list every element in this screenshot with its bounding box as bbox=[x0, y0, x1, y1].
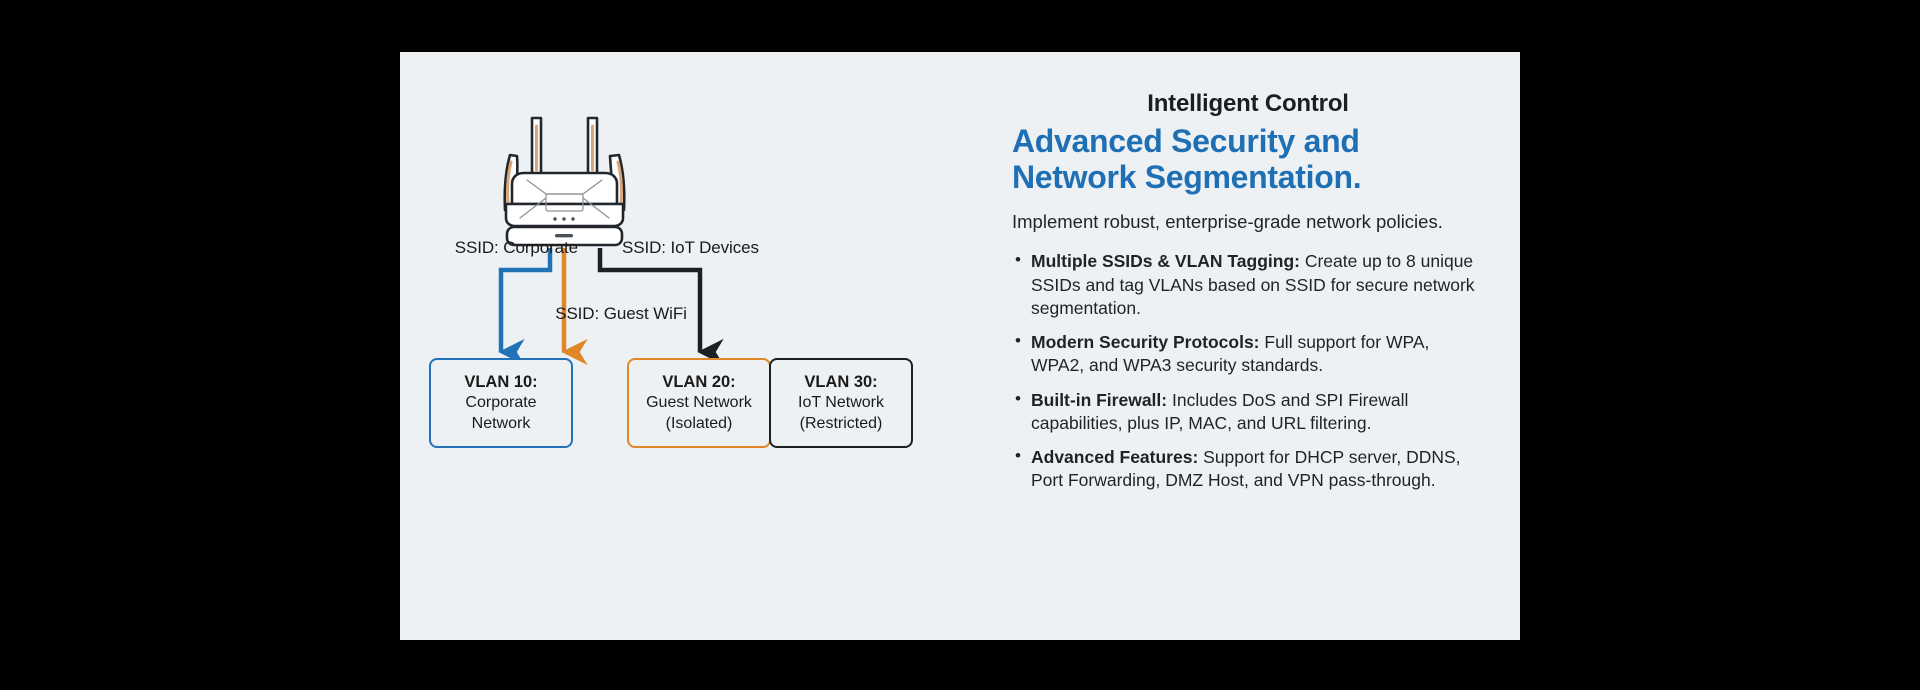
wifi-router-icon bbox=[505, 118, 625, 245]
feature-copy: Intelligent Control Advanced Security an… bbox=[1000, 52, 1520, 640]
feature-card: SSID: Corporate SSID: Guest WiFi SSID: I… bbox=[400, 52, 1520, 640]
vlan-20-line2: (Isolated) bbox=[666, 414, 733, 434]
vlan-30-line2: (Restricted) bbox=[800, 414, 883, 434]
bullet-term: Multiple SSIDs & VLAN Tagging: bbox=[1031, 251, 1300, 271]
vlan-box-30: VLAN 30: IoT Network (Restricted) bbox=[769, 358, 913, 448]
vlan-30-line1: IoT Network bbox=[798, 393, 884, 413]
list-item: Modern Security Protocols: Full support … bbox=[1012, 331, 1484, 378]
bullet-term: Built-in Firewall: bbox=[1031, 390, 1167, 410]
headline-line-2: Network Segmentation. bbox=[1012, 159, 1361, 195]
network-segmentation-diagram: SSID: Corporate SSID: Guest WiFi SSID: I… bbox=[400, 52, 1000, 640]
vlan-20-title: VLAN 20: bbox=[662, 372, 735, 393]
ssid-label-guest: SSID: Guest WiFi bbox=[500, 304, 742, 324]
lede-text: Implement robust, enterprise-grade netwo… bbox=[1012, 210, 1484, 235]
ssid-label-iot: SSID: IoT Devices bbox=[622, 238, 812, 258]
bullet-term: Advanced Features: bbox=[1031, 447, 1198, 467]
diagram-canvas bbox=[400, 52, 1000, 640]
link-iot bbox=[600, 248, 700, 352]
page-title: Advanced Security and Network Segmentati… bbox=[1012, 124, 1484, 196]
vlan-10-line2: Network bbox=[472, 414, 531, 434]
link-corporate bbox=[501, 248, 550, 352]
list-item: Multiple SSIDs & VLAN Tagging: Create up… bbox=[1012, 250, 1484, 320]
list-item: Advanced Features: Support for DHCP serv… bbox=[1012, 446, 1484, 493]
feature-bullet-list: Multiple SSIDs & VLAN Tagging: Create up… bbox=[1012, 250, 1484, 492]
eyebrow-text: Intelligent Control bbox=[1012, 90, 1484, 118]
vlan-20-line1: Guest Network bbox=[646, 393, 752, 413]
screenshot-stage: SSID: Corporate SSID: Guest WiFi SSID: I… bbox=[0, 0, 1920, 690]
vlan-box-10: VLAN 10: Corporate Network bbox=[429, 358, 573, 448]
vlan-box-20: VLAN 20: Guest Network (Isolated) bbox=[627, 358, 771, 448]
vlan-30-title: VLAN 30: bbox=[804, 372, 877, 393]
vlan-10-line1: Corporate bbox=[465, 393, 536, 413]
list-item: Built-in Firewall: Includes DoS and SPI … bbox=[1012, 389, 1484, 436]
vlan-10-title: VLAN 10: bbox=[464, 372, 537, 393]
headline-line-1: Advanced Security and bbox=[1012, 123, 1360, 159]
ssid-label-corporate: SSID: Corporate bbox=[408, 238, 578, 258]
bullet-term: Modern Security Protocols: bbox=[1031, 332, 1260, 352]
